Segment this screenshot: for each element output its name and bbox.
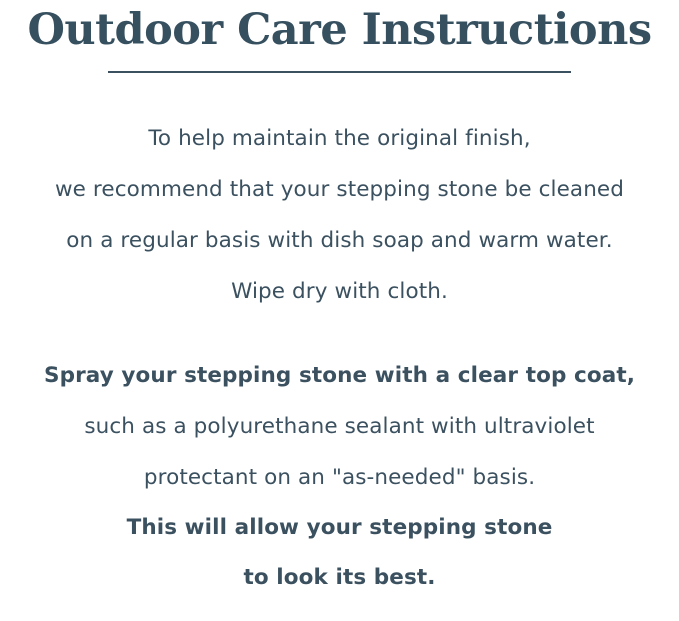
text-line: such as a polyurethane sealant with ultr… [0, 401, 679, 452]
care-instructions-page: Outdoor Care Instructions To help mainta… [0, 8, 679, 621]
title-divider-container [0, 71, 679, 73]
text-line: To help maintain the original finish, [0, 113, 679, 164]
page-title: Outdoor Care Instructions [0, 8, 679, 53]
text-line: Spray your stepping stone with a clear t… [0, 350, 679, 401]
text-line: protectant on an "as-needed" basis. [0, 452, 679, 503]
divider [108, 71, 571, 73]
paragraph-top-coat: Spray your stepping stone with a clear t… [0, 350, 679, 603]
text-line: Wipe dry with cloth. [0, 266, 679, 317]
paragraph-maintenance: To help maintain the original finish, we… [0, 113, 679, 317]
text-line: This will allow your stepping stone [0, 503, 679, 553]
text-line: on a regular basis with dish soap and wa… [0, 215, 679, 266]
text-line: we recommend that your stepping stone be… [0, 164, 679, 215]
text-line: to look its best. [0, 553, 679, 603]
